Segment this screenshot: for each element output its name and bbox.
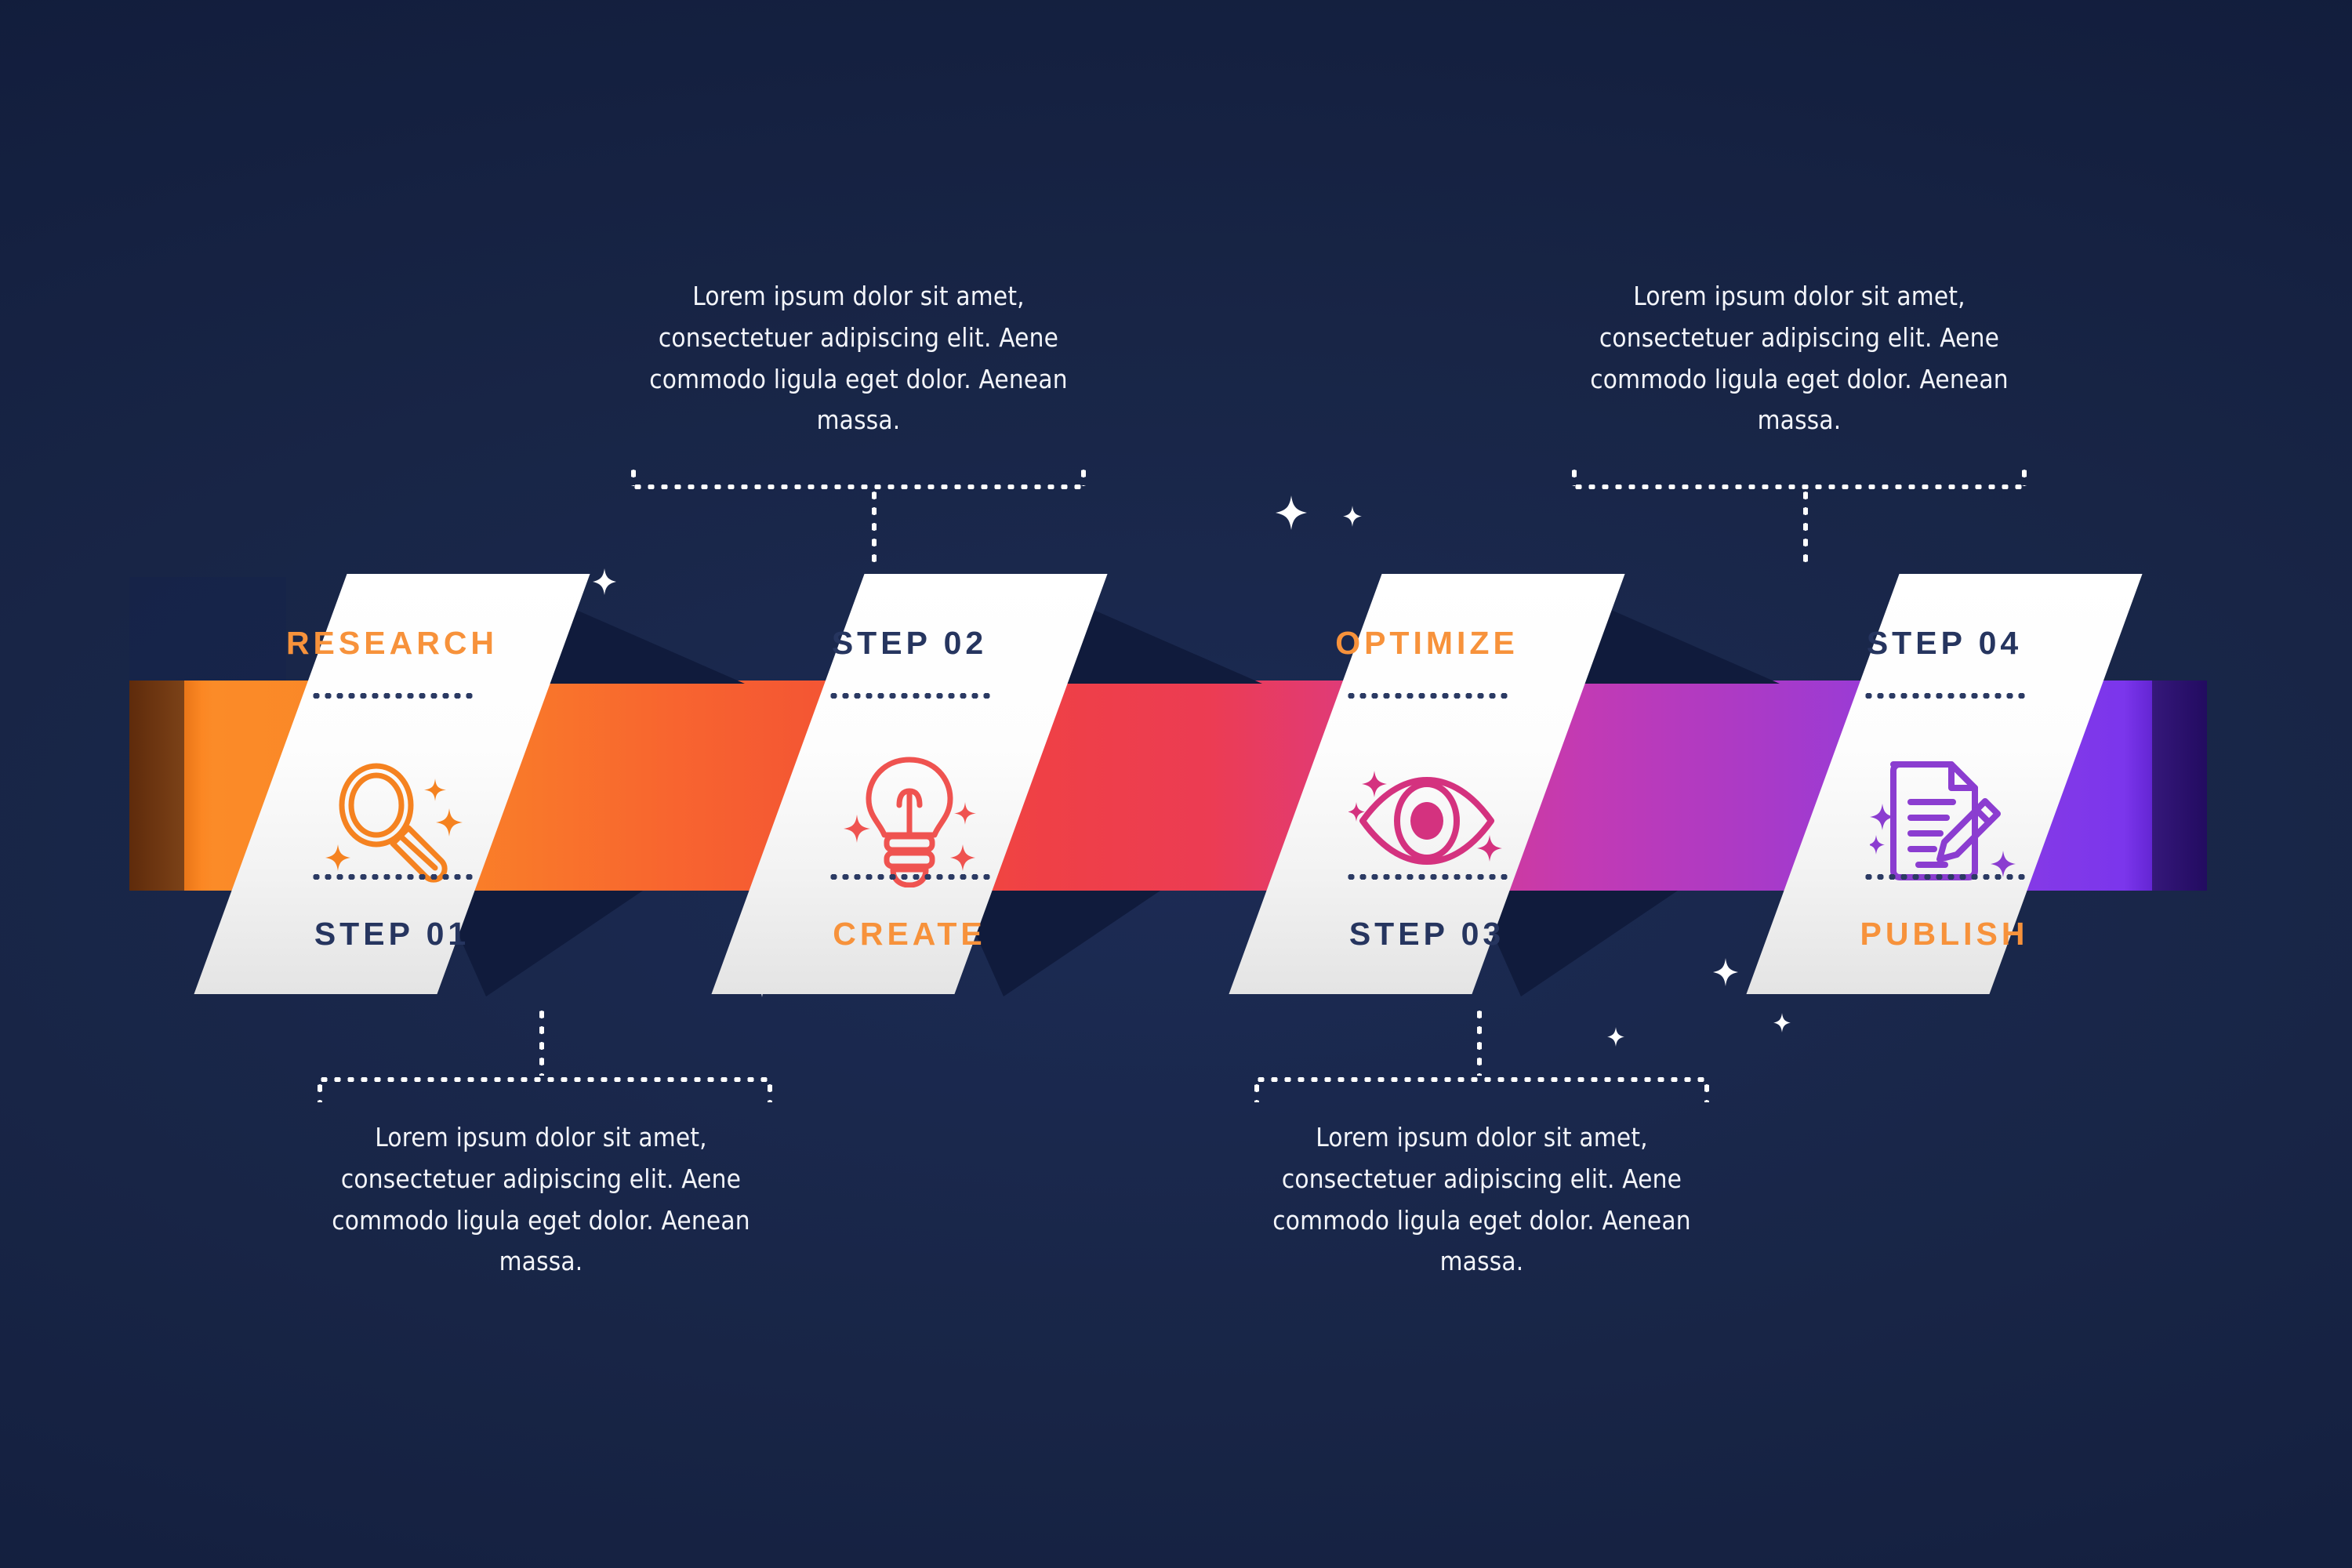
step-card-2-bottom-label: CREATE xyxy=(833,918,986,950)
sparkle-icon xyxy=(1607,1027,1624,1047)
dotted-separator-bottom xyxy=(1345,874,1508,880)
step-card-2-top-label: STEP 02 xyxy=(832,627,987,659)
step-card-3-bottom-label: STEP 03 xyxy=(1349,918,1504,950)
step-card-1-bottom-label: STEP 01 xyxy=(314,918,470,950)
connector-rise-step-1 xyxy=(539,1007,544,1076)
connector-drop-step-4 xyxy=(1803,488,1808,569)
connector-line-step-1 xyxy=(318,1077,772,1082)
connector-line-step-4 xyxy=(1572,485,2027,489)
sparkle-icon xyxy=(1713,958,1738,986)
dotted-separator-top xyxy=(310,693,474,699)
dotted-separator-top xyxy=(828,693,991,699)
dotted-separator-top xyxy=(1863,693,2026,699)
eye-icon xyxy=(1337,748,1517,889)
document-pencil-icon xyxy=(1854,748,2034,889)
connector-line-step-3 xyxy=(1254,1077,1709,1082)
dotted-separator-top xyxy=(1345,693,1508,699)
connector-stub-step-3-left xyxy=(1254,1080,1259,1102)
connector-stub-step-3-right xyxy=(1704,1080,1709,1102)
connector-stub-step-1-right xyxy=(768,1080,772,1102)
magnifier-icon xyxy=(302,748,482,889)
connector-stub-step-4-right xyxy=(2022,466,2027,486)
step-card-4-bottom-label: PUBLISH xyxy=(1860,918,2029,950)
sparkle-icon xyxy=(1276,495,1307,530)
connector-rise-step-3 xyxy=(1477,1007,1482,1076)
infographic-canvas: RESEARCH STEP 01 xyxy=(0,0,2352,1568)
sparkle-icon xyxy=(1773,1013,1791,1033)
ribbon-left-shade xyxy=(129,681,184,891)
ribbon-right-shade xyxy=(2152,681,2207,891)
step-card-3-top-label: OPTIMIZE xyxy=(1335,627,1519,659)
connector-stub-step-2-left xyxy=(631,466,636,486)
connector-stub-step-2-right xyxy=(1081,466,1086,486)
caption-step-2: Lorem ipsum dolor sit amet, consectetuer… xyxy=(631,276,1086,441)
dotted-separator-bottom xyxy=(828,874,991,880)
connector-drop-step-2 xyxy=(872,488,877,569)
connector-line-step-2 xyxy=(631,485,1086,489)
step-card-1-top-label: RESEARCH xyxy=(286,627,498,659)
ribbon-end-shadow xyxy=(129,577,286,681)
dotted-separator-bottom xyxy=(310,874,474,880)
sparkle-icon xyxy=(1343,506,1362,527)
caption-step-3: Lorem ipsum dolor sit amet, consectetuer… xyxy=(1254,1117,1709,1283)
step-card-4-top-label: STEP 04 xyxy=(1867,627,2022,659)
lightbulb-icon xyxy=(819,748,1000,889)
caption-step-4: Lorem ipsum dolor sit amet, consectetuer… xyxy=(1572,276,2027,441)
connector-stub-step-1-left xyxy=(318,1080,322,1102)
connector-stub-step-4-left xyxy=(1572,466,1577,486)
caption-step-1: Lorem ipsum dolor sit amet, consectetuer… xyxy=(314,1117,768,1283)
dotted-separator-bottom xyxy=(1863,874,2026,880)
